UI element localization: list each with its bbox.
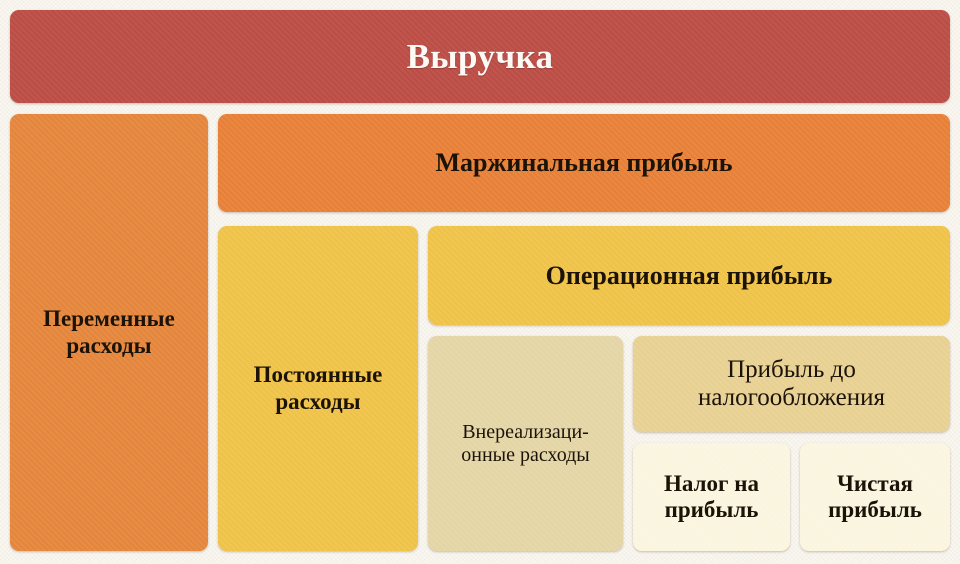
- diagram-canvas: Выручка Переменные расходы Маржинальная …: [0, 0, 960, 564]
- block-variable-costs-label-line2: расходы: [43, 333, 175, 359]
- block-fixed-costs-label-line1: Постоянные: [254, 362, 383, 388]
- block-net-profit-label: Чистая прибыль: [828, 471, 922, 523]
- block-income-tax[interactable]: Налог на прибыль: [633, 443, 790, 551]
- block-fixed-costs-label: Постоянные расходы: [254, 362, 383, 414]
- block-operating-profit-label: Операционная прибыль: [546, 261, 833, 291]
- block-income-tax-label: Налог на прибыль: [664, 471, 759, 523]
- block-non-operating-expenses-label: Внереализаци- онные расходы: [461, 421, 590, 467]
- block-net-profit[interactable]: Чистая прибыль: [800, 443, 950, 551]
- block-variable-costs-label: Переменные расходы: [43, 306, 175, 358]
- block-contribution-margin[interactable]: Маржинальная прибыль: [218, 114, 950, 212]
- block-pretax-profit-label: Прибыль до налогообложения: [698, 356, 885, 413]
- block-non-operating-expenses-label-line1: Внереализаци-: [461, 421, 590, 444]
- block-income-tax-label-line2: прибыль: [664, 497, 759, 523]
- block-revenue[interactable]: Выручка: [10, 10, 950, 103]
- block-non-operating-expenses-label-line2: онные расходы: [461, 444, 590, 467]
- block-contribution-margin-label: Маржинальная прибыль: [436, 148, 733, 178]
- block-fixed-costs-label-line2: расходы: [254, 389, 383, 415]
- block-net-profit-label-line2: прибыль: [828, 497, 922, 523]
- block-variable-costs[interactable]: Переменные расходы: [10, 114, 208, 551]
- block-pretax-profit[interactable]: Прибыль до налогообложения: [633, 336, 950, 432]
- block-variable-costs-label-line1: Переменные: [43, 306, 175, 332]
- block-pretax-profit-label-line2: налогообложения: [698, 384, 885, 413]
- block-net-profit-label-line1: Чистая: [828, 471, 922, 497]
- block-fixed-costs[interactable]: Постоянные расходы: [218, 226, 418, 551]
- block-income-tax-label-line1: Налог на: [664, 471, 759, 497]
- block-operating-profit[interactable]: Операционная прибыль: [428, 226, 950, 325]
- block-revenue-label: Выручка: [407, 37, 554, 77]
- block-pretax-profit-label-line1: Прибыль до: [698, 356, 885, 385]
- block-non-operating-expenses[interactable]: Внереализаци- онные расходы: [428, 336, 623, 551]
